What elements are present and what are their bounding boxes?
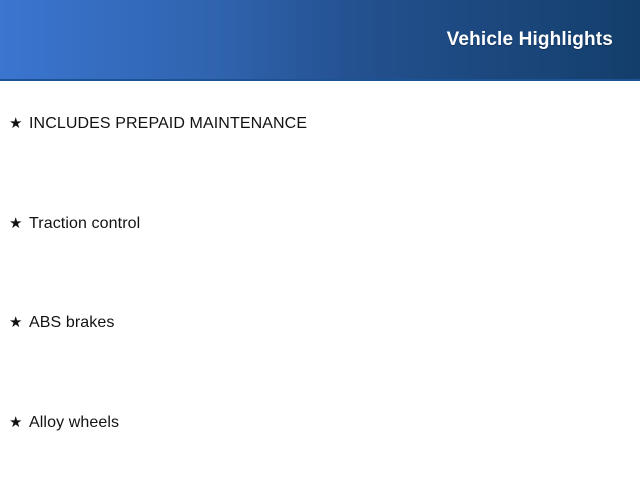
page-title: Vehicle Highlights (447, 30, 613, 49)
list-item[interactable]: ★ INCLUDES PREPAID MAINTENANCE (0, 81, 640, 181)
list-item-label: ABS brakes (29, 314, 640, 332)
list-item[interactable]: ★ ABS brakes (0, 280, 640, 380)
list-item-label: Alloy wheels (29, 414, 640, 432)
list-item-label: Traction control (29, 215, 640, 233)
star-bullet-icon: ★ (9, 414, 29, 432)
star-bullet-icon: ★ (9, 115, 29, 133)
vehicle-highlights-list: ★ INCLUDES PREPAID MAINTENANCE ★ Tractio… (0, 81, 640, 480)
panel-header: Vehicle Highlights (0, 0, 640, 81)
star-bullet-icon: ★ (9, 314, 29, 332)
list-item-label: INCLUDES PREPAID MAINTENANCE (29, 115, 640, 133)
list-item[interactable]: ★ Alloy wheels (0, 380, 640, 480)
list-item[interactable]: ★ Traction control (0, 181, 640, 281)
vehicle-highlights-panel: Vehicle Highlights ★ INCLUDES PREPAID MA… (0, 0, 640, 480)
star-bullet-icon: ★ (9, 215, 29, 233)
